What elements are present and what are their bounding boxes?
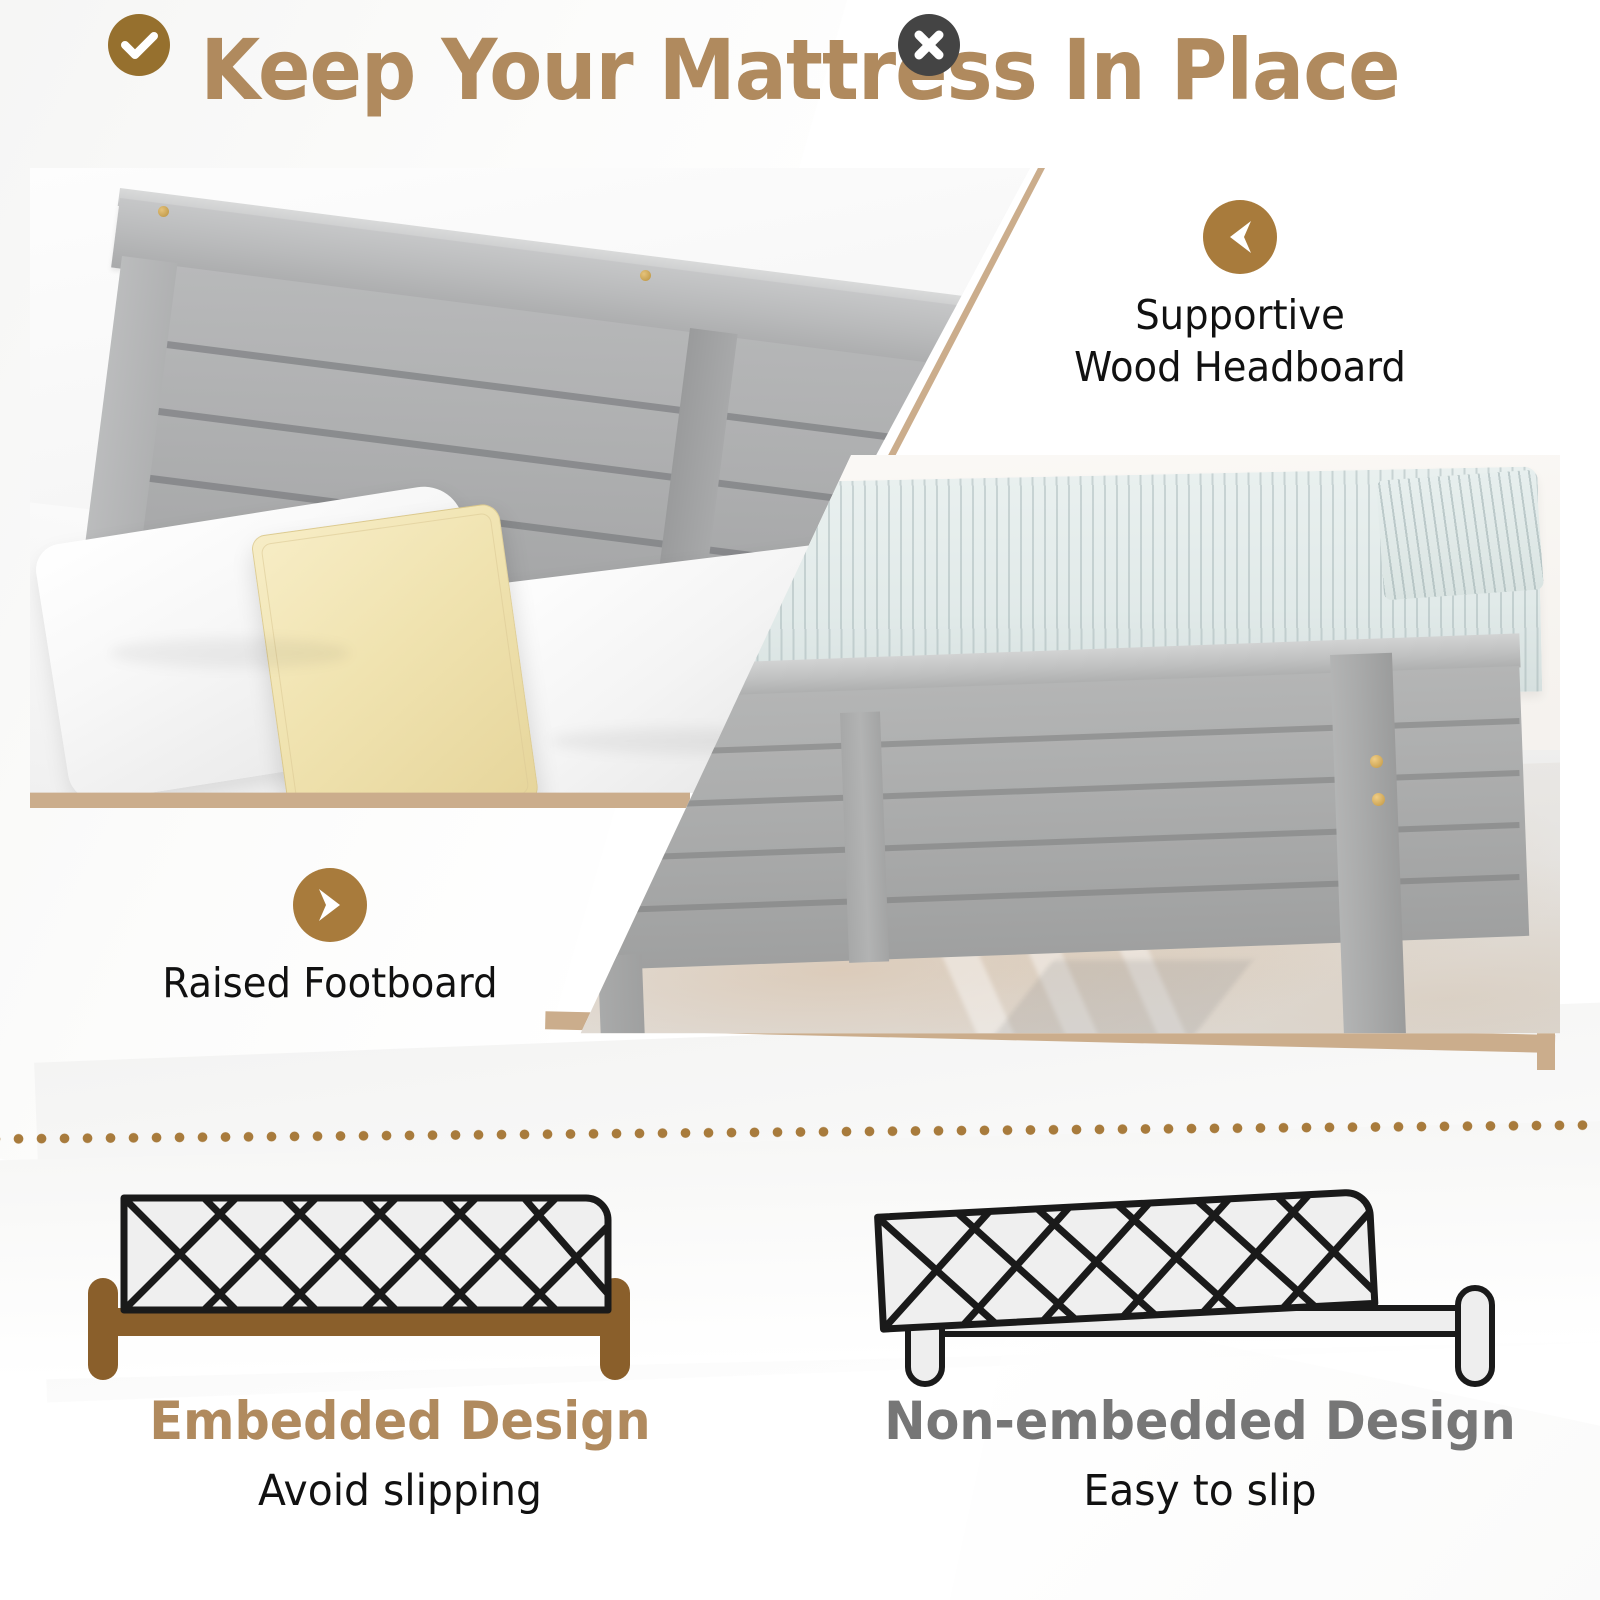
comparison-non-embedded: Non-embedded Design Easy to slip [800, 1180, 1600, 1600]
comparison-non-embedded-title: Non-embedded Design [828, 1395, 1572, 1448]
comparison-non-embedded-subtitle: Easy to slip [820, 1470, 1580, 1513]
callout-headboard: Supportive Wood Headboard [1010, 200, 1470, 393]
page-title: Keep Your Mattress In Place [64, 28, 1536, 112]
footboard-screw-2 [1372, 793, 1385, 806]
comparison-embedded: Embedded Design Avoid slipping [0, 1180, 800, 1600]
comparison-embedded-subtitle: Avoid slipping [20, 1470, 780, 1513]
callout-footboard: Raised Footboard [130, 868, 530, 1010]
callout-footboard-label: Raised Footboard [142, 958, 518, 1010]
x-icon [898, 14, 960, 76]
headboard-screw-2 [640, 270, 651, 281]
embedded-design-diagram [0, 1180, 800, 1400]
footboard-screw-1 [1370, 755, 1383, 768]
comparison-embedded-title: Embedded Design [28, 1395, 772, 1448]
headboard-screw-1 [158, 206, 169, 217]
check-icon [108, 14, 170, 76]
non-embedded-design-diagram [800, 1180, 1600, 1400]
infographic-root: Keep Your Mattress In Place [0, 0, 1600, 1600]
arrow-left-icon [1203, 200, 1277, 274]
sheet-fold-1 [110, 638, 350, 668]
mattress-ruffle [1376, 470, 1544, 601]
callout-headboard-label: Supportive Wood Headboard [1024, 290, 1456, 393]
arrow-right-icon [293, 868, 367, 942]
